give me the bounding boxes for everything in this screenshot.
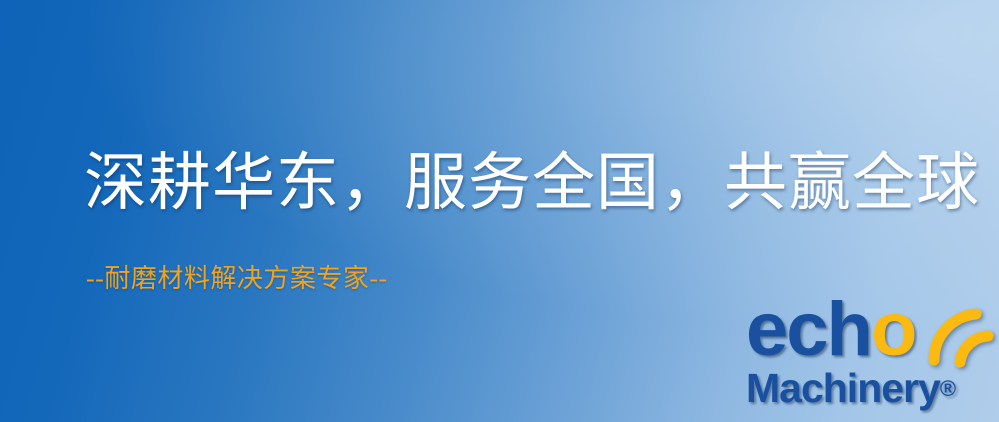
logo-subline-text: Machinery — [746, 365, 940, 411]
banner-subtitle: --耐磨材料解决方案专家-- — [86, 266, 388, 292]
logo-wordmark-primary: ech — [746, 287, 871, 372]
logo-subline: Machinery® — [746, 368, 956, 409]
registered-trademark-symbol: ® — [940, 376, 956, 401]
banner-headline: 深耕华东，服务全国，共赢全球 — [84, 152, 980, 215]
promo-banner: 深耕华东，服务全国，共赢全球 --耐磨材料解决方案专家-- echo Machi… — [0, 0, 999, 422]
company-logo: echo Machinery® — [744, 296, 999, 422]
logo-wordmark-accent: o — [871, 287, 915, 372]
echo-wave-icon — [926, 294, 999, 364]
logo-wordmark: echo — [746, 292, 915, 368]
